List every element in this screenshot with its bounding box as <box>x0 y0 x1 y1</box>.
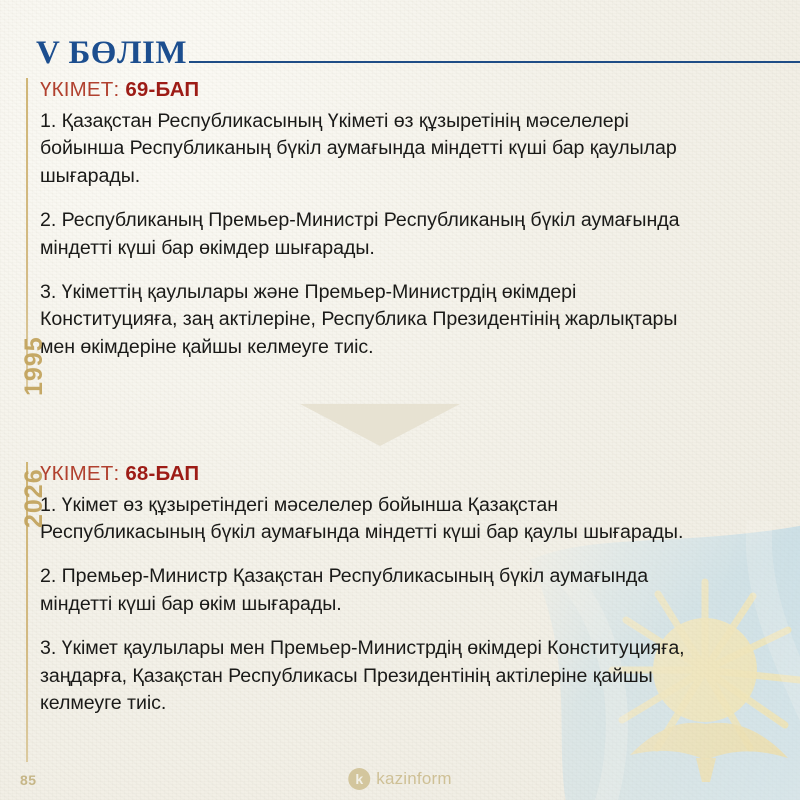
article-paragraph: 2. Республиканың Премьер-Министрі Респуб… <box>40 207 712 263</box>
brand-logo: k kazinform <box>348 768 452 790</box>
article-heading-68: ҮКІМЕТ: 68-БАП <box>40 462 726 486</box>
page-number: 85 <box>20 772 37 788</box>
triangle-down-icon <box>300 404 460 446</box>
brand-name-label: kazinform <box>376 769 452 789</box>
page-title: V БӨЛІМ <box>36 37 187 70</box>
article-block-2026: 2026 ҮКІМЕТ: 68-БАП 1. Үкімет өз құзырет… <box>26 462 726 762</box>
slide-canvas: V БӨЛІМ 1995 ҮКІМЕТ: 69-БАП 1. Қазақстан… <box>0 0 800 800</box>
kazinform-k-icon: k <box>348 768 370 790</box>
article-paragraph: 2. Премьер-Министр Қазақстан Республикас… <box>40 563 712 619</box>
year-tab-2026: 2026 <box>20 468 49 528</box>
article-paragraph: 3. Үкімет қаулылары мен Премьер-Министрд… <box>40 635 712 718</box>
article-paragraph: 1. Қазақстан Республикасының Үкіметі өз … <box>40 108 712 191</box>
title-underline-rule <box>189 61 800 63</box>
slide-header: V БӨЛІМ <box>36 26 800 70</box>
article-label: ҮКІМЕТ: <box>40 462 119 485</box>
article-paragraph: 3. Үкіметтің қаулылары және Премьер-Мини… <box>40 279 712 362</box>
year-tab-1995: 1995 <box>20 336 49 396</box>
article-paragraph: 1. Үкімет өз құзыретіндегі мәселелер бой… <box>40 492 712 548</box>
article-block-1995: 1995 ҮКІМЕТ: 69-БАП 1. Қазақстан Республ… <box>26 78 726 390</box>
article-heading-69: ҮКІМЕТ: 69-БАП <box>40 78 726 102</box>
article-label: ҮКІМЕТ: <box>40 78 119 101</box>
article-number: 68-БАП <box>125 462 199 485</box>
article-number: 69-БАП <box>125 78 199 101</box>
